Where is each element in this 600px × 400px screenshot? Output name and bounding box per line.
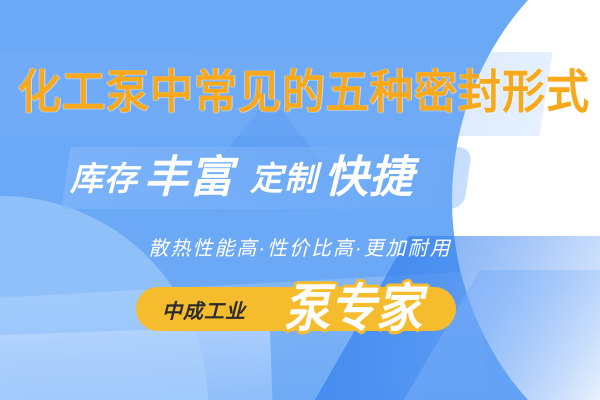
subhead-part-abundant: 丰富 [144, 156, 234, 200]
tagline-text: 散热性能高·性价比高·更加耐用 [0, 232, 600, 261]
brand-badge: 中成工业 泵专家 [136, 283, 466, 335]
badge-company-name: 中成工业 [162, 295, 246, 324]
banner-content: 化工泵中常见的五种密封形式 库存 丰富 定制 快捷 散热性能高·性价比高·更加耐… [0, 0, 600, 400]
subhead-part-custom: 定制 [250, 162, 318, 195]
promo-banner: 化工泵中常见的五种密封形式 库存 丰富 定制 快捷 散热性能高·性价比高·更加耐… [0, 0, 600, 400]
subhead-part-fast: 快捷 [324, 156, 414, 200]
headline-text: 化工泵中常见的五种密封形式 [18, 60, 590, 127]
subhead-part-stock: 库存 [70, 162, 138, 195]
badge-expert-title: 泵专家 [284, 268, 422, 342]
subhead-text: 库存 丰富 定制 快捷 [70, 150, 490, 206]
